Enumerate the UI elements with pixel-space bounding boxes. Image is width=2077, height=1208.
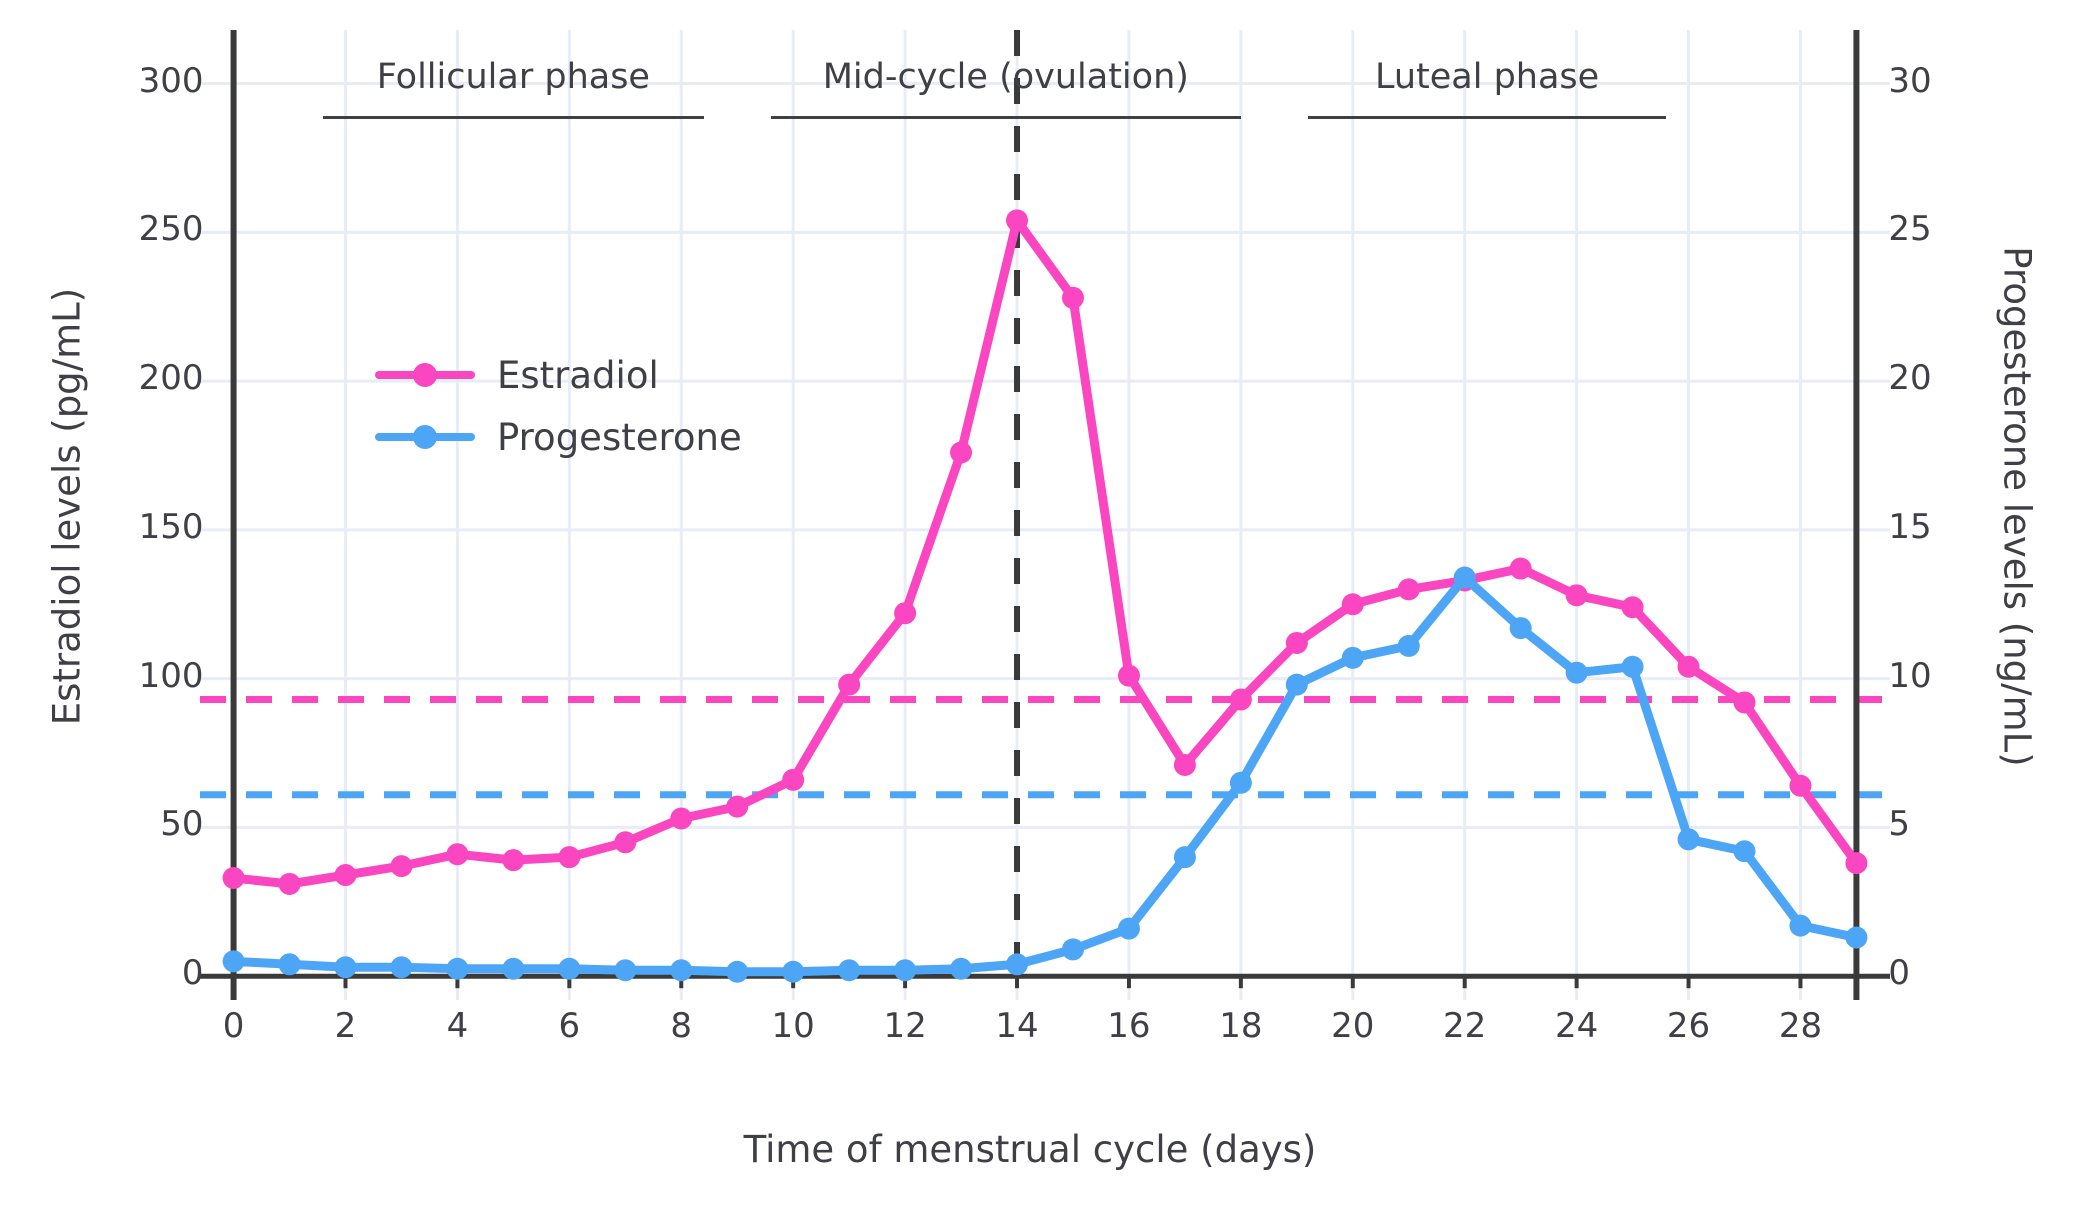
data-point-progesterone-day-8[interactable] [670,959,692,981]
y-axis-right-tick-label: 5 [1888,804,2008,844]
data-point-estradiol-day-3[interactable] [390,855,412,877]
data-point-progesterone-day-6[interactable] [558,958,580,980]
x-axis-tick-label: 10 [733,1006,853,1046]
data-point-estradiol-day-12[interactable] [894,602,916,624]
data-point-estradiol-day-7[interactable] [614,831,636,853]
chart-figure: Estradiol levels (pg/mL) Progesterone le… [0,0,2077,1208]
phase-annotation-label: Luteal phase [1137,57,1837,97]
data-point-progesterone-day-13[interactable] [950,958,972,980]
legend-swatch-progesterone [375,426,475,448]
data-point-progesterone-day-5[interactable] [502,958,524,980]
legend-marker-icon [413,363,437,387]
data-point-progesterone-day-17[interactable] [1174,846,1196,868]
x-axis-tick-label: 20 [1293,1006,1413,1046]
x-axis-tick-label: 26 [1629,1006,1749,1046]
reference-lines [200,699,1890,794]
series-line-estradiol [234,220,1857,884]
data-point-estradiol-day-27[interactable] [1734,691,1756,713]
y-axis-left-tick-label: 50 [84,804,204,844]
y-axis-left-tick-label: 250 [84,209,204,249]
data-point-progesterone-day-9[interactable] [726,961,748,983]
y-axis-left-tick-label: 200 [84,358,204,398]
data-point-progesterone-day-25[interactable] [1622,656,1644,678]
data-point-estradiol-day-20[interactable] [1342,593,1364,615]
data-point-progesterone-day-12[interactable] [894,959,916,981]
data-point-estradiol-day-29[interactable] [1845,852,1867,874]
series-progesterone [223,566,1868,982]
data-point-estradiol-day-8[interactable] [670,807,692,829]
legend-swatch-estradiol [375,364,475,386]
data-point-progesterone-day-29[interactable] [1845,927,1867,949]
data-point-progesterone-day-24[interactable] [1566,662,1588,684]
y-axis-left-tick-label: 150 [84,507,204,547]
x-axis-tick-label: 18 [1181,1006,1301,1046]
data-point-estradiol-day-1[interactable] [279,873,301,895]
data-point-progesterone-day-15[interactable] [1062,938,1084,960]
y-axis-right-tick-label: 20 [1888,358,2008,398]
y-axis-right-tick-label: 10 [1888,656,2008,696]
data-point-progesterone-day-20[interactable] [1342,647,1364,669]
data-point-estradiol-day-10[interactable] [782,769,804,791]
data-point-progesterone-day-11[interactable] [838,959,860,981]
x-axis-tick-label: 24 [1517,1006,1637,1046]
data-point-estradiol-day-23[interactable] [1510,558,1532,580]
data-point-estradiol-day-28[interactable] [1789,775,1811,797]
series-line-progesterone [234,577,1857,971]
data-point-progesterone-day-2[interactable] [334,956,356,978]
legend-item-estradiol[interactable]: Estradiol [375,344,845,406]
data-point-progesterone-day-27[interactable] [1734,840,1756,862]
data-point-progesterone-day-0[interactable] [223,950,245,972]
data-point-progesterone-day-7[interactable] [614,959,636,981]
data-point-progesterone-day-23[interactable] [1510,617,1532,639]
x-axis-title: Time of menstrual cycle (days) [150,1128,1910,1171]
y-axis-left-tick-label: 100 [84,656,204,696]
data-point-estradiol-day-26[interactable] [1678,656,1700,678]
x-axis-tick-label: 8 [621,1006,741,1046]
x-axis-tick-label: 6 [509,1006,629,1046]
data-point-progesterone-day-19[interactable] [1286,674,1308,696]
data-point-estradiol-day-14[interactable] [1006,209,1028,231]
y-axis-left-title: Estradiol levels (pg/mL) [46,187,89,827]
x-axis-tick-label: 2 [285,1006,405,1046]
data-point-estradiol-day-18[interactable] [1230,688,1252,710]
data-point-estradiol-day-21[interactable] [1398,578,1420,600]
x-axis-tick-label: 4 [397,1006,517,1046]
phase-annotation-underline [771,116,1241,119]
data-point-progesterone-day-1[interactable] [279,953,301,975]
y-axis-right-tick-label: 25 [1888,209,2008,249]
data-point-estradiol-day-5[interactable] [502,849,524,871]
data-point-progesterone-day-3[interactable] [390,956,412,978]
x-axis-tick-label: 12 [845,1006,965,1046]
x-axis-tick-label: 0 [174,1006,294,1046]
data-point-progesterone-day-28[interactable] [1789,915,1811,937]
phase-annotation-underline [1308,116,1666,119]
legend-item-progesterone[interactable]: Progesterone [375,406,845,468]
data-point-progesterone-day-16[interactable] [1118,918,1140,940]
data-point-estradiol-day-11[interactable] [838,674,860,696]
data-point-estradiol-day-17[interactable] [1174,754,1196,776]
data-point-progesterone-day-18[interactable] [1230,772,1252,794]
legend-marker-icon [413,425,437,449]
data-point-progesterone-day-22[interactable] [1454,566,1476,588]
data-point-estradiol-day-6[interactable] [558,846,580,868]
y-axis-left-tick-label: 0 [84,953,204,993]
data-point-estradiol-day-25[interactable] [1622,596,1644,618]
x-axis-tick-label: 14 [957,1006,1077,1046]
data-point-estradiol-day-9[interactable] [726,796,748,818]
data-point-estradiol-day-2[interactable] [334,864,356,886]
data-point-estradiol-day-4[interactable] [446,843,468,865]
data-point-estradiol-day-15[interactable] [1062,287,1084,309]
data-point-estradiol-day-16[interactable] [1118,665,1140,687]
plot-canvas [200,30,1890,1000]
data-point-progesterone-day-10[interactable] [782,961,804,983]
legend-label: Progesterone [497,416,742,459]
x-axis-tick-label: 16 [1069,1006,1189,1046]
plot-area [200,30,1890,1000]
data-point-progesterone-day-26[interactable] [1678,828,1700,850]
data-point-estradiol-day-24[interactable] [1566,584,1588,606]
y-axis-right-tick-label: 30 [1888,61,2008,101]
data-point-estradiol-day-13[interactable] [950,442,972,464]
data-point-progesterone-day-21[interactable] [1398,635,1420,657]
data-point-estradiol-day-19[interactable] [1286,632,1308,654]
data-point-progesterone-day-4[interactable] [446,958,468,980]
data-point-progesterone-day-14[interactable] [1006,953,1028,975]
chart-legend: EstradiolProgesterone [375,344,845,468]
phase-annotation-underline [323,116,704,119]
data-point-estradiol-day-0[interactable] [223,867,245,889]
y-axis-right-tick-label: 15 [1888,507,2008,547]
legend-label: Estradiol [497,354,659,397]
x-axis-tick-label: 28 [1740,1006,1860,1046]
x-axis-tick-label: 22 [1405,1006,1525,1046]
y-axis-right-tick-label: 0 [1888,953,2008,993]
